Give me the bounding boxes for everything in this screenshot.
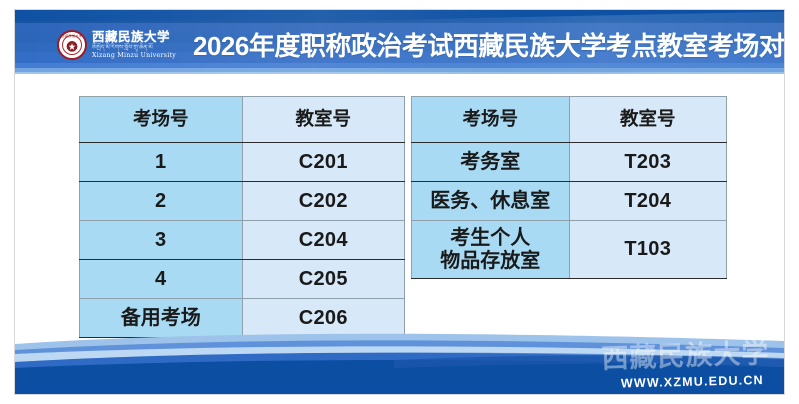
table-row: 1 C201 [80,143,405,182]
table-header-row: 考场号 教室号 [412,97,727,143]
website-url: WWW.XZMU.EDU.CN [621,373,764,390]
cell-classroom: C201 [242,143,405,182]
seal-inner-emblem [62,35,82,55]
column-header-classroom: 教室号 [242,97,405,143]
header-banner: 西藏民族大学 西藏民族大学 ༀསྤོད་མི་རིགས་སློབ་གྲྭ་ཆེན… [15,10,784,74]
cell-classroom: T203 [569,143,727,182]
content-area: 考场号 教室号 1 C201 2 C202 3 C204 [15,74,784,394]
table-right-body: 考场号 教室号 考务室 T203 医务、休息室 T204 考生个人物品存放室 T… [412,97,727,279]
logo-name-en: Xizang Minzu University [92,53,176,59]
cell-room: 备用考场 [80,299,243,338]
logo-name-tibetan: ༀསྤོད་མི་རིགས་སློབ་གྲྭ་ཆེན་མོ [92,45,176,51]
table-row: 考生个人物品存放室 T103 [412,221,727,279]
cell-room: 考生个人物品存放室 [412,221,570,279]
cell-room: 考务室 [412,143,570,182]
cell-room: 1 [80,143,243,182]
exam-room-table-right: 考场号 教室号 考务室 T203 医务、休息室 T204 考生个人物品存放室 T… [411,96,727,279]
slide-canvas: 西藏民族大学 西藏民族大学 ༀསྤོད་མི་རིགས་སློབ་གྲྭ་ཆེན… [0,0,799,404]
cell-room: 2 [80,182,243,221]
logo-text-block: 西藏民族大学 ༀསྤོད་མི་རིགས་སློབ་གྲྭ་ཆེན་མོ Xiz… [92,31,176,59]
cell-classroom: C206 [242,299,405,338]
cell-classroom: T103 [569,221,727,279]
table-row: 医务、休息室 T204 [412,182,727,221]
table-row: 2 C202 [80,182,405,221]
university-logo: 西藏民族大学 西藏民族大学 ༀསྤོད་མི་རིགས་སློབ་གྲྭ་ཆེན… [57,28,176,62]
logo-name-cn: 西藏民族大学 [92,31,176,44]
university-seal-icon: 西藏民族大学 [57,30,87,60]
watermark-text: 西藏民族大学 [601,331,770,376]
page-title: 2026年度职称政治考试西藏民族大学考点教室考场对应表 [193,24,784,64]
wave-band-shadow [394,355,784,368]
seal-arc-text: 西藏民族大学 [61,35,82,38]
table-header-row: 考场号 教室号 [80,97,405,143]
table-left-body: 考场号 教室号 1 C201 2 C202 3 C204 [80,97,405,338]
cell-classroom: C202 [242,182,405,221]
wave-band-highlight [15,346,784,362]
cell-classroom: C204 [242,221,405,260]
column-header-room: 考场号 [412,97,570,143]
table-row: 备用考场 C206 [80,299,405,338]
cell-classroom: T204 [569,182,727,221]
table-row: 3 C204 [80,221,405,260]
column-header-room: 考场号 [80,97,243,143]
table-row: 考务室 T203 [412,143,727,182]
exam-room-table-left: 考场号 教室号 1 C201 2 C202 3 C204 [79,96,405,338]
cell-room: 4 [80,260,243,299]
cell-room: 3 [80,221,243,260]
column-header-classroom: 教室号 [569,97,727,143]
wave-band-mid [15,340,784,368]
wave-band-bright [15,353,784,376]
slide-frame: 西藏民族大学 西藏民族大学 ༀསྤོད་མི་རིགས་སློབ་གྲྭ་ཆེན… [14,9,785,395]
cell-room: 医务、休息室 [412,182,570,221]
table-row: 4 C205 [80,260,405,299]
wave-band-deep [15,360,784,394]
cell-classroom: C205 [242,260,405,299]
